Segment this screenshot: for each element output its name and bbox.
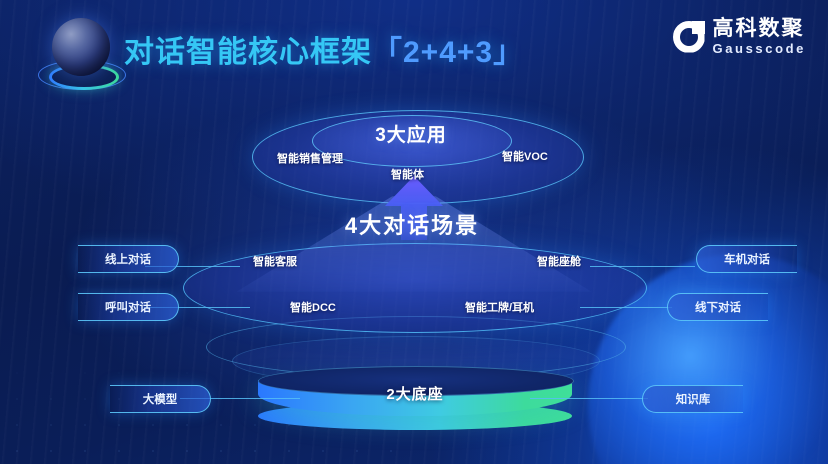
- slide-canvas: 对话智能核心框架「2+4+3」 高科数聚 Gausscode 4大对话场景 智能…: [0, 0, 828, 464]
- layer-top-heading: 3大应用: [312, 120, 510, 147]
- layer-base-cylinder: 2大底座: [258, 366, 572, 428]
- connector-line-right-2: [580, 307, 672, 308]
- middle-item-2: 智能座舱: [537, 253, 581, 269]
- header: 对话智能核心框架「2+4+3」 高科数聚 Gausscode: [0, 0, 828, 100]
- tag-left-online-dialog-label: 线上对话: [105, 251, 151, 267]
- brand-name-cn: 高科数聚: [713, 18, 807, 39]
- page-title: 对话智能核心框架「2+4+3」: [124, 27, 524, 71]
- orb-ball-icon: [52, 18, 110, 76]
- tag-right-knowledge-base-label: 知识库: [676, 391, 711, 407]
- top-item-2: 智能体: [391, 166, 424, 182]
- tag-right-invehicle-dialog[interactable]: 车机对话: [696, 245, 797, 273]
- tag-left-call-dialog-label: 呼叫对话: [105, 299, 151, 315]
- sphere-orb-icon: [30, 14, 122, 98]
- top-item-3: 智能VOC: [502, 148, 548, 164]
- brand-logo: 高科数聚 Gausscode: [673, 18, 807, 55]
- g-square-shape: [692, 21, 705, 34]
- tag-left-large-model[interactable]: 大模型: [110, 385, 211, 413]
- page-title-bracket-open: 「: [372, 36, 403, 69]
- tag-right-offline-dialog-label: 线下对话: [695, 299, 741, 315]
- tag-left-large-model-label: 大模型: [143, 391, 178, 407]
- middle-item-1: 智能客服: [253, 253, 297, 269]
- gausscode-g-icon: [673, 21, 705, 53]
- tag-right-knowledge-base[interactable]: 知识库: [642, 385, 743, 413]
- tag-left-call-dialog[interactable]: 呼叫对话: [78, 293, 179, 321]
- tag-right-offline-dialog[interactable]: 线下对话: [667, 293, 768, 321]
- tag-left-online-dialog[interactable]: 线上对话: [78, 245, 179, 273]
- layer-base-heading: 2大底座: [258, 383, 572, 404]
- middle-item-4: 智能工牌/耳机: [465, 299, 534, 315]
- middle-item-3: 智能DCC: [290, 299, 336, 315]
- tag-right-invehicle-dialog-label: 车机对话: [724, 251, 770, 267]
- brand-name-en: Gausscode: [713, 42, 807, 55]
- top-item-1: 智能销售管理: [277, 150, 343, 166]
- page-title-formula: 2+4+3: [403, 36, 493, 69]
- brand-text: 高科数聚 Gausscode: [713, 18, 807, 55]
- layer-middle-heading: 4大对话场景: [312, 208, 512, 240]
- connector-line-right-1: [590, 266, 695, 267]
- page-title-main: 对话智能核心框架: [124, 36, 372, 69]
- page-title-bracket-close: 」: [493, 36, 524, 69]
